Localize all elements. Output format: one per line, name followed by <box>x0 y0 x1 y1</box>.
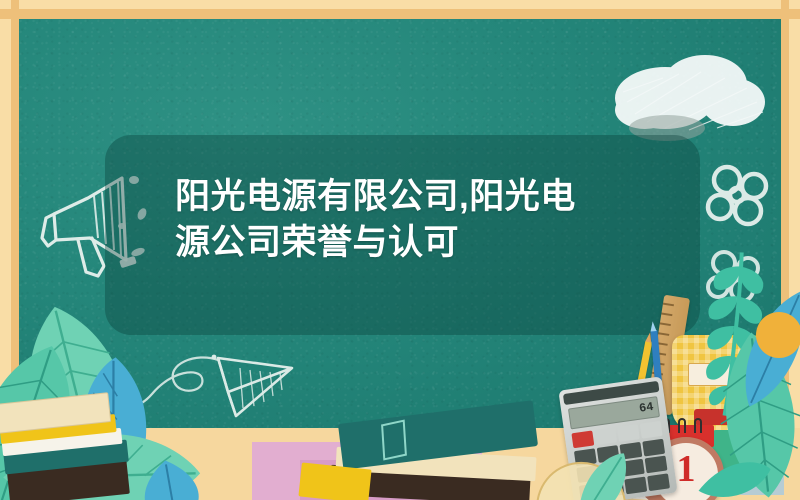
calculator-key <box>645 456 668 474</box>
frame-band-top <box>0 9 800 19</box>
book-item <box>298 462 371 500</box>
calculator-key <box>647 473 670 491</box>
calculator-key <box>643 438 666 456</box>
calculator-key <box>617 424 640 442</box>
banner-image: 阳光电源有限公司,阳光电 源公司荣誉与认可 <box>0 0 800 500</box>
headline-line-1: 阳光电源有限公司,阳光电 <box>175 174 645 220</box>
globe-accent <box>756 312 800 358</box>
book-emblem <box>376 418 413 462</box>
calculator-key <box>571 431 594 449</box>
calculator-key <box>594 427 617 445</box>
page-title: 阳光电源有限公司,阳光电 源公司荣誉与认可 <box>175 174 645 265</box>
headline-line-2: 源公司荣誉与认可 <box>175 220 645 266</box>
calculator-key <box>640 421 663 439</box>
